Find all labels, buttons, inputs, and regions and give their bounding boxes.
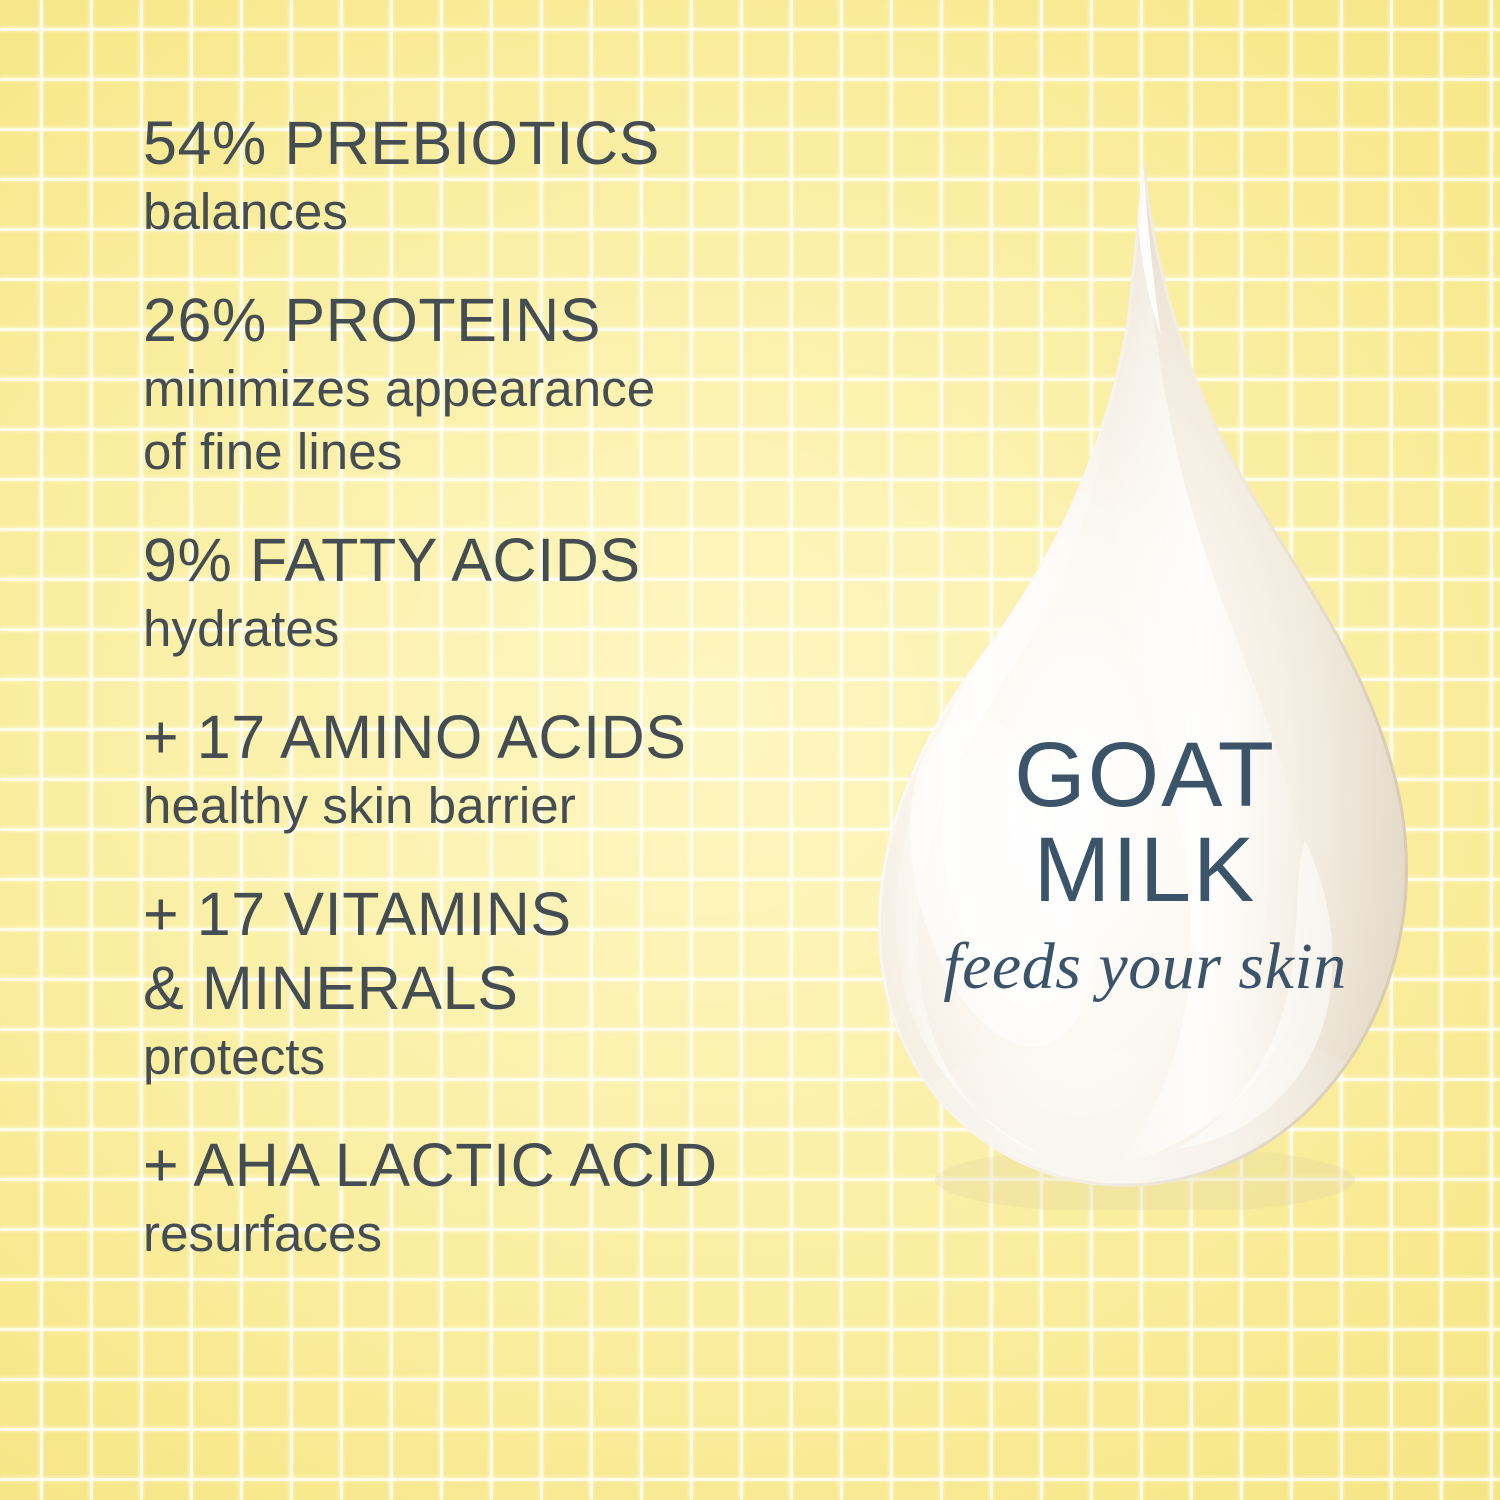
brand-name: GOAT MILK	[835, 728, 1455, 918]
list-item: + 17 VITAMINS & MINERALS protects	[143, 877, 843, 1088]
ingredient-benefit: balances	[143, 180, 843, 243]
ingredient-list: 54% PREBIOTICS balances 26% PROTEINS min…	[143, 106, 843, 1265]
list-item: 54% PREBIOTICS balances	[143, 106, 843, 243]
product-ingredient-infographic: 54% PREBIOTICS balances 26% PROTEINS min…	[0, 0, 1500, 1500]
list-item: 26% PROTEINS minimizes appearance of fin…	[143, 283, 843, 483]
ingredient-headline: + AHA LACTIC ACID	[143, 1128, 843, 1202]
ingredient-benefit: healthy skin barrier	[143, 774, 843, 837]
ingredient-headline: 9% FATTY ACIDS	[143, 523, 843, 597]
ingredient-headline: + 17 AMINO ACIDS	[143, 700, 843, 774]
milk-droplet-icon	[835, 140, 1455, 1210]
ingredient-benefit: hydrates	[143, 597, 843, 660]
list-item: + AHA LACTIC ACID resurfaces	[143, 1128, 843, 1265]
milk-droplet: GOAT MILK feeds your skin	[835, 140, 1455, 1210]
ingredient-headline: + 17 VITAMINS & MINERALS	[143, 877, 843, 1025]
ingredient-benefit: protects	[143, 1025, 843, 1088]
ingredient-headline: 54% PREBIOTICS	[143, 106, 843, 180]
ingredient-headline: 26% PROTEINS	[143, 283, 843, 357]
ingredient-benefit: resurfaces	[143, 1202, 843, 1265]
list-item: 9% FATTY ACIDS hydrates	[143, 523, 843, 660]
ingredient-benefit: minimizes appearance of fine lines	[143, 357, 843, 483]
list-item: + 17 AMINO ACIDS healthy skin barrier	[143, 700, 843, 837]
brand-tagline: feeds your skin	[835, 932, 1455, 1002]
